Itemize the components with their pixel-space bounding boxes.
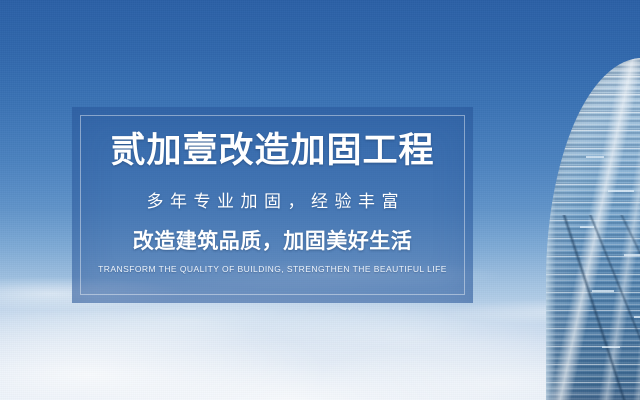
banner-tagline-en: TRANSFORM THE QUALITY OF BUILDING, STREN… [98,264,447,274]
headline-panel: 贰加壹改造加固工程 多年专业加固，经验丰富 改造建筑品质，加固美好生活 TRAN… [72,107,473,303]
hero-banner: 贰加壹改造加固工程 多年专业加固，经验丰富 改造建筑品质，加固美好生活 TRAN… [0,0,640,400]
panel-content: 贰加壹改造加固工程 多年专业加固，经验丰富 改造建筑品质，加固美好生活 TRAN… [72,107,473,303]
banner-tagline-cn: 改造建筑品质，加固美好生活 [133,225,413,255]
banner-title: 贰加壹改造加固工程 [110,133,434,170]
banner-subtitle: 多年专业加固，经验丰富 [140,187,405,212]
